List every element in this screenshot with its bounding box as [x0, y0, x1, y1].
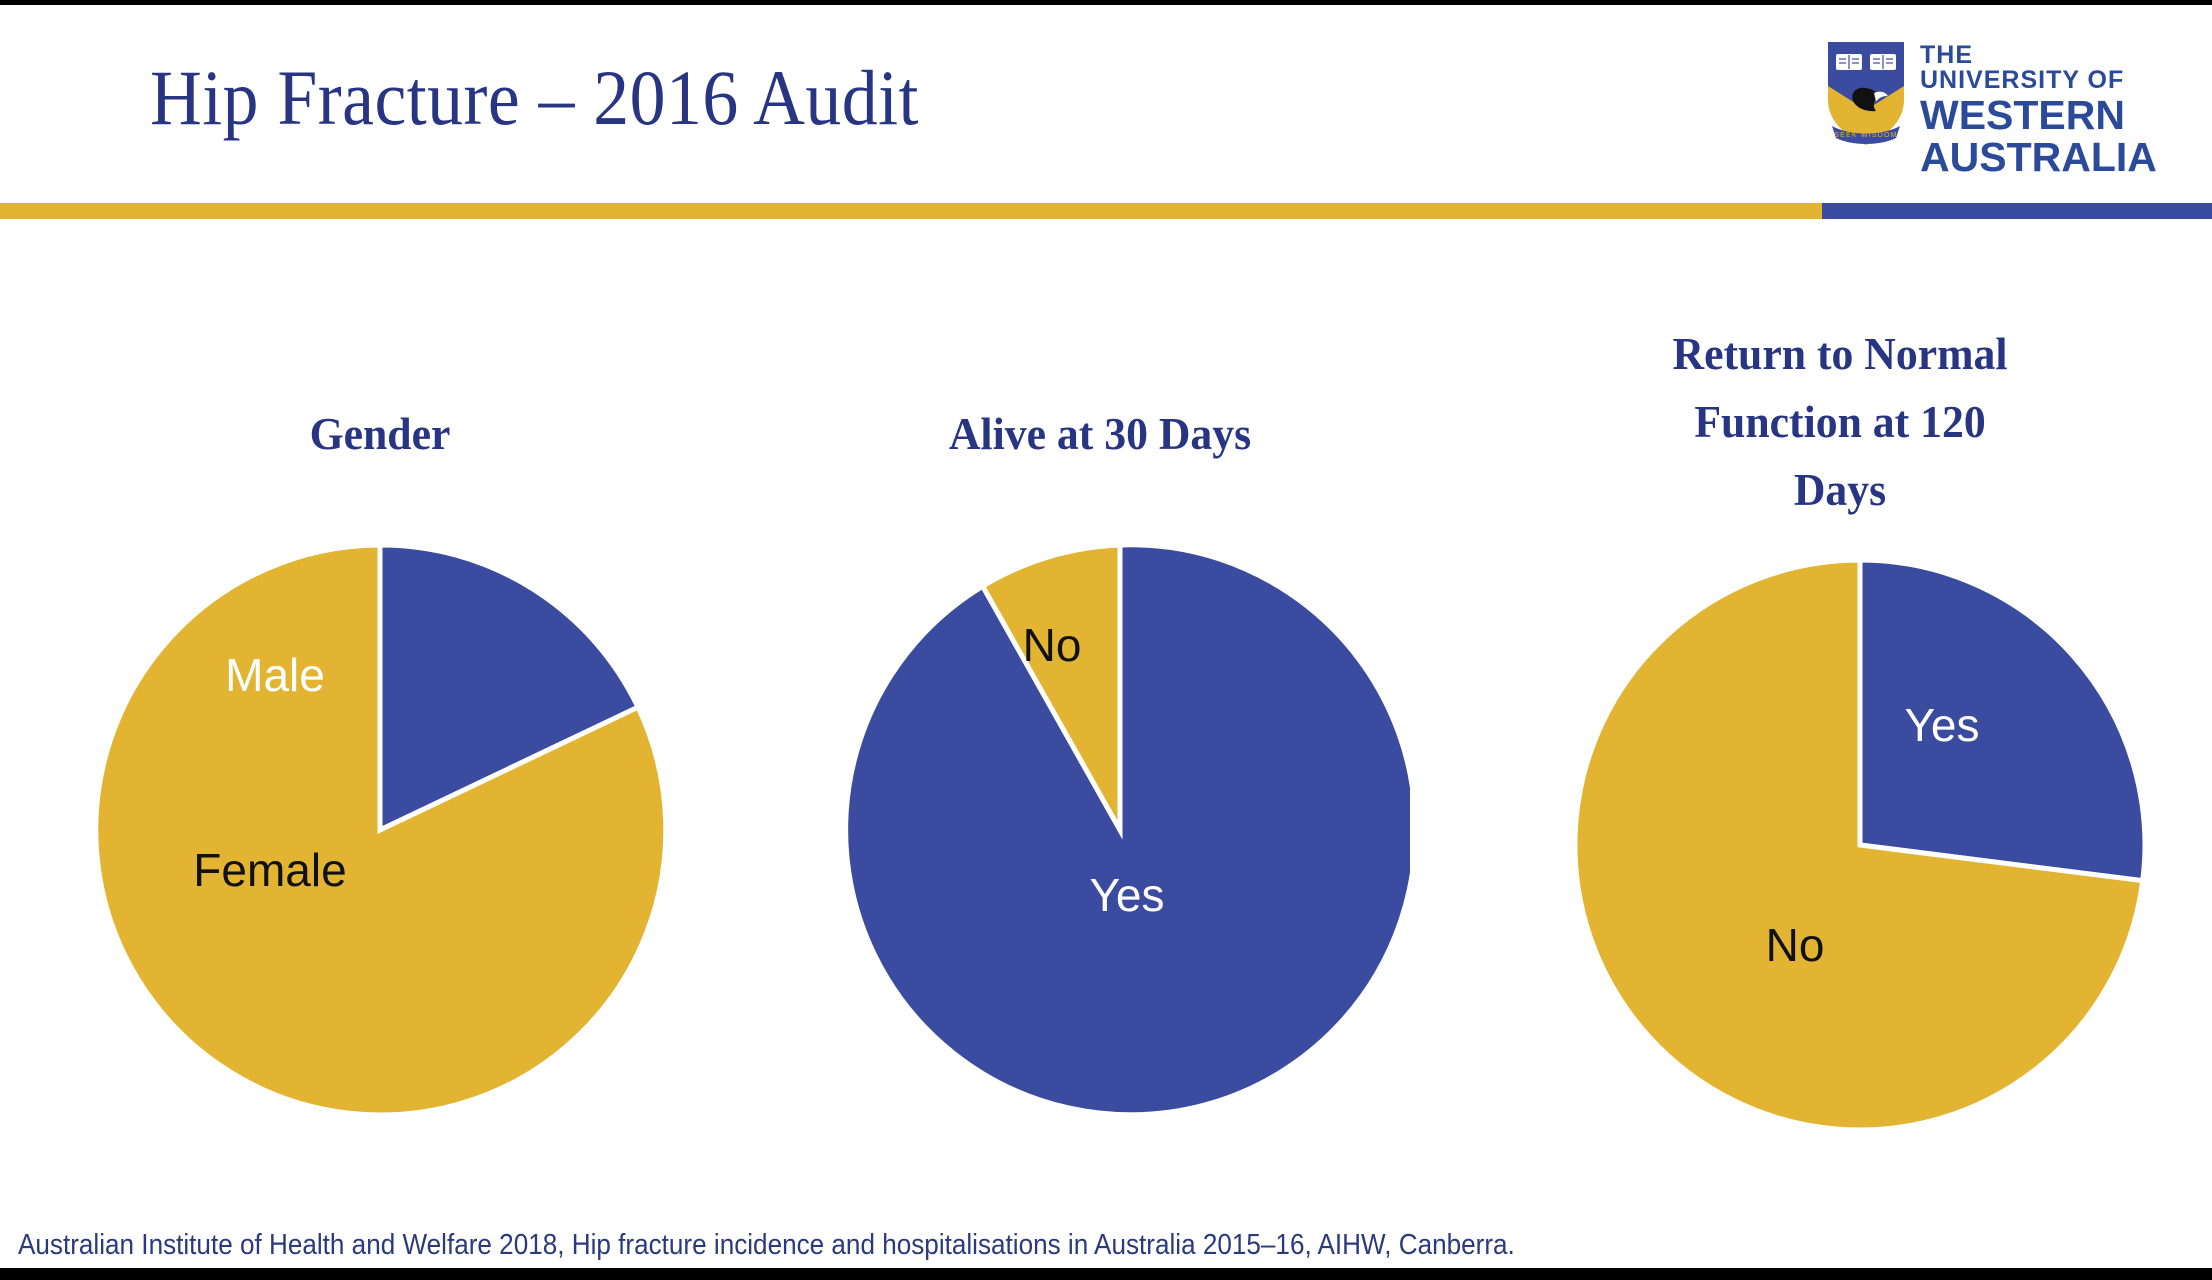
chart-alive-30-days: Alive at 30 Days No Yes [780, 410, 1420, 1050]
uwa-logo-line-1: THE UNIVERSITY OF [1920, 43, 2140, 93]
chart-return-normal-function-title: Return to Normal Function at 120 Days [1565, 320, 2116, 524]
uwa-shield-icon: SEEK WISDOM [1822, 38, 1910, 150]
chart-gender: Gender Male Female [60, 410, 700, 1050]
pie-alive-svg [830, 540, 1410, 1120]
pie-gender-svg [90, 540, 670, 1120]
chart3-title-line-1: Return to Normal [1565, 320, 2116, 388]
uwa-logo-line-2: WESTERN [1920, 95, 2140, 136]
header-divider [0, 203, 2212, 219]
chart-gender-pie: Male Female [90, 540, 670, 1120]
pie-label-male: Male [225, 648, 325, 702]
pie-label-yes: Yes [1904, 698, 1979, 752]
pie-label-no: No [1766, 918, 1825, 972]
pie-slice-yes[interactable] [846, 545, 1410, 1115]
divider-gold-segment [0, 203, 1822, 219]
uwa-logo-line-3: AUSTRALIA [1920, 137, 2140, 178]
pie-label-yes: Yes [1089, 868, 1164, 922]
pie-slice-yes[interactable] [1860, 560, 2145, 881]
chart-gender-title: Gender [76, 400, 684, 468]
chart-alive-30-days-pie: No Yes [830, 540, 1410, 1120]
chart-return-normal-function: Return to Normal Function at 120 Days Ye… [1520, 330, 2160, 1070]
chart3-title-line-3: Days [1565, 456, 2116, 524]
chart-alive-30-days-title: Alive at 30 Days [796, 400, 1404, 468]
pie-return-svg [1570, 555, 2150, 1135]
letterbox-top-bar [0, 0, 2212, 5]
letterbox-bottom-bar [0, 1268, 2212, 1280]
uwa-logo-text: THE UNIVERSITY OF WESTERN AUSTRALIA [1920, 43, 2140, 178]
chart3-title-line-2: Function at 120 [1565, 388, 2116, 456]
chart-return-normal-function-pie: Yes No [1570, 555, 2150, 1135]
pie-label-no: No [1023, 618, 1082, 672]
page-title: Hip Fracture – 2016 Audit [150, 52, 919, 144]
uwa-logo: SEEK WISDOM THE UNIVERSITY OF WESTERN AU… [1822, 38, 2142, 150]
uwa-motto-text: SEEK WISDOM [1834, 132, 1897, 139]
slide-canvas: Hip Fracture – 2016 Audit [0, 0, 2212, 1280]
source-citation: Australian Institute of Health and Welfa… [18, 1228, 1515, 1262]
divider-blue-segment [1822, 203, 2212, 219]
pie-label-female: Female [193, 843, 346, 897]
